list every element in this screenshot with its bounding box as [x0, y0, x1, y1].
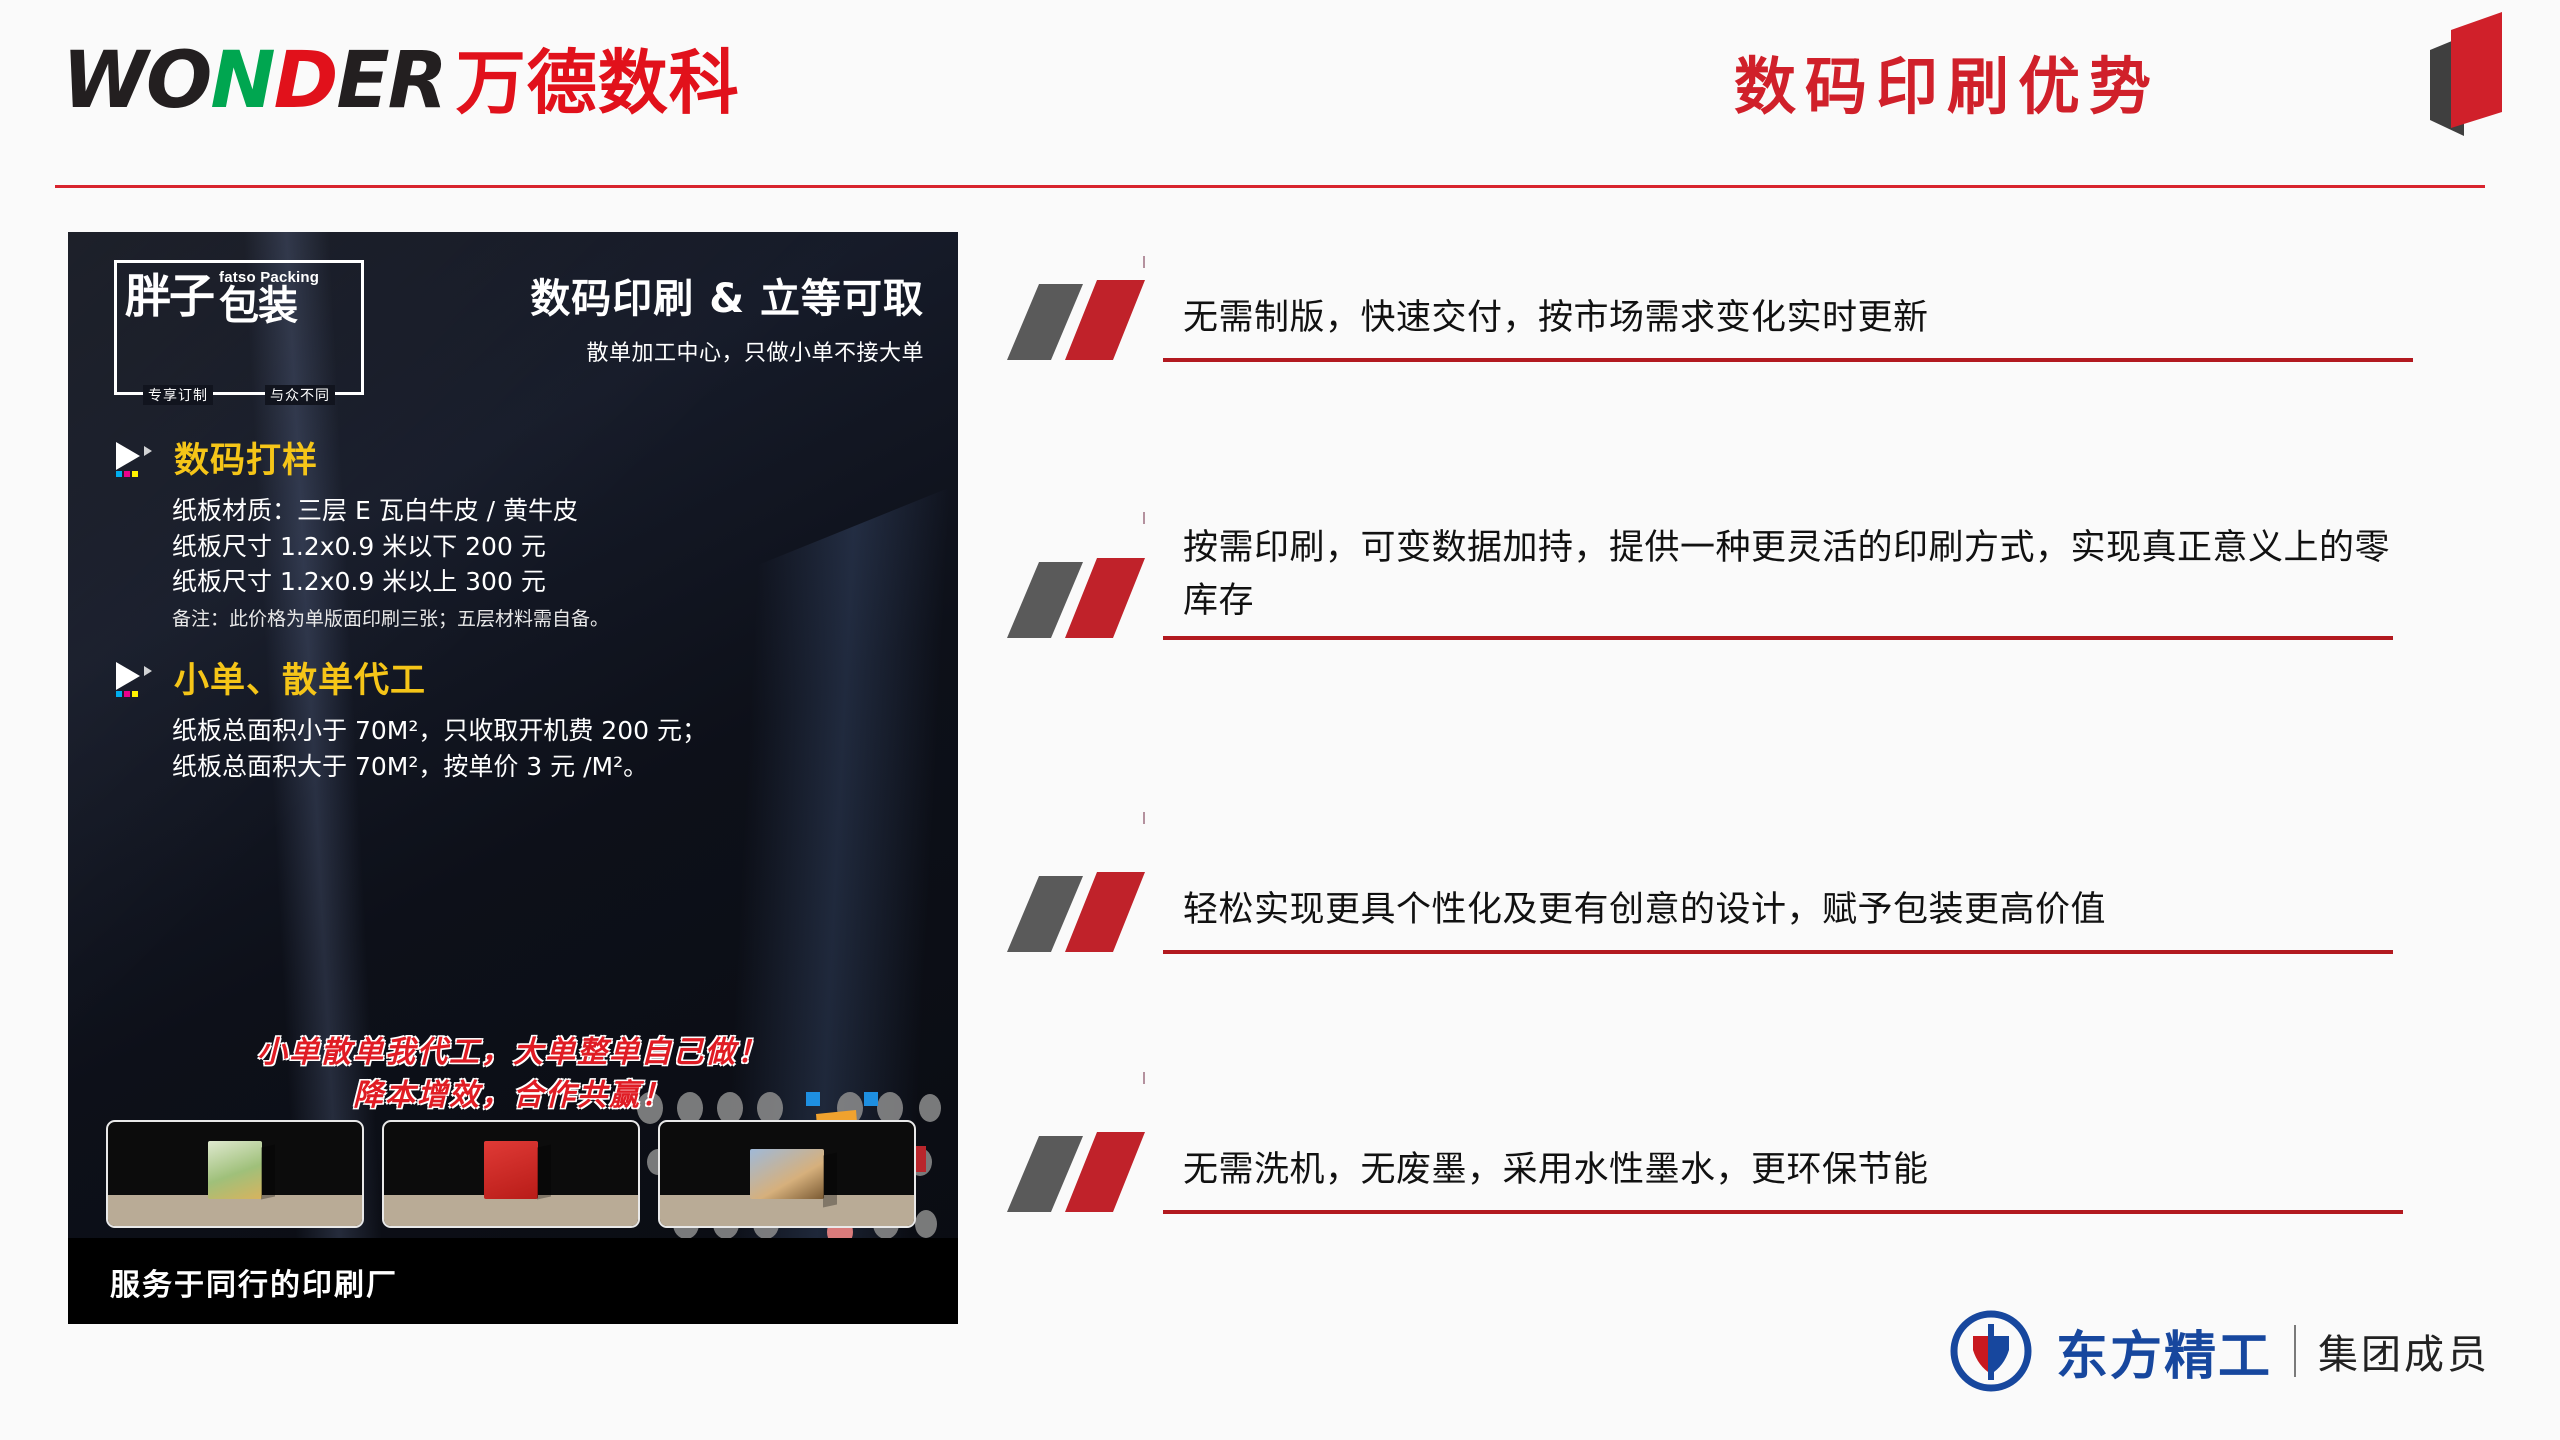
chevron-cmyk-icon [114, 438, 160, 478]
advantage-underline [1163, 1210, 2403, 1214]
page-title: 数码印刷优势 [1734, 36, 2160, 126]
fatso-packing-logo: 胖子 fatso Packing 包装 专享订制 与众不同 [114, 260, 364, 395]
poster-section-digital-proofing: 数码打样 纸板材质：三层 E 瓦白牛皮 / 黄牛皮 纸板尺寸 1.2x0.9 米… [114, 432, 609, 631]
advantage-underline [1163, 950, 2393, 954]
promo-poster: 胖子 fatso Packing 包装 专享订制 与众不同 数码印刷 & 立等可… [68, 232, 958, 1324]
fatso-logo-packing-cn: 包装 [219, 287, 319, 325]
wonder-wordmark-part2: ER [336, 36, 445, 126]
tick-mark-icon [1143, 812, 1145, 824]
poster-headline-block: 数码印刷 & 立等可取 散单加工中心，只做小单不接大单 [530, 266, 924, 367]
parallelogram-logo-mark-icon [2406, 8, 2524, 136]
fatso-logo-cn: 胖子 [125, 275, 213, 319]
dongfang-footer-logo: 东方精工 集团成员 [1948, 1308, 2490, 1394]
poster-headline: 数码印刷 & 立等可取 [530, 266, 924, 324]
dongfang-company-name: 东方精工 [2056, 1314, 2272, 1389]
product-photo [106, 1120, 364, 1228]
wonder-wordmark-d-red: D [274, 36, 337, 126]
section-line: 纸板材质：三层 E 瓦白牛皮 / 黄牛皮 [172, 493, 609, 529]
advantage-text: 无需洗机，无废墨，采用水性墨水，更环保节能 [1183, 1144, 2413, 1197]
product-photo [382, 1120, 640, 1228]
poster-subheadline: 散单加工中心，只做小单不接大单 [530, 335, 924, 367]
wonder-wordmark: WONDER [62, 42, 446, 120]
section-line: 纸板尺寸 1.2x0.9 米以下 200 元 [172, 529, 609, 565]
page-header: WONDER 万德数科 数码印刷优势 [0, 0, 2560, 190]
wonder-wordmark-n-green: N [210, 36, 273, 126]
advantage-text: 按需印刷，可变数据加持，提供一种更灵活的印刷方式，实现真正意义上的零库存 [1183, 522, 2393, 627]
group-member-label: 集团成员 [2318, 1322, 2490, 1380]
double-slash-marker-icon [1005, 842, 1185, 960]
header-divider [55, 185, 2485, 188]
tick-mark-icon [1143, 512, 1145, 524]
poster-slogan-line-1: 小单散单我代工，大单整单自己做！ [68, 1032, 958, 1075]
section-line: 纸板尺寸 1.2x0.9 米以上 300 元 [172, 564, 609, 600]
poster-footer-bar: 服务于同行的印刷厂 [68, 1238, 958, 1324]
double-slash-marker-icon [1005, 1102, 1185, 1220]
tick-mark-icon [1143, 1072, 1145, 1084]
wonder-brand-chinese: 万德数科 [456, 48, 740, 118]
footer-divider [2294, 1325, 2296, 1377]
poster-slogan: 小单散单我代工，大单整单自己做！ 降本增效，合作共赢！ [68, 1032, 958, 1117]
advantage-underline [1163, 636, 2393, 640]
poster-slogan-line-2: 降本增效，合作共赢！ [68, 1075, 958, 1118]
product-photo [658, 1120, 916, 1228]
double-slash-marker-icon [1005, 528, 1185, 646]
poster-footer-text: 服务于同行的印刷厂 [110, 1260, 398, 1304]
section-line: 纸板总面积大于 70M²，按单价 3 元 /M²。 [172, 749, 707, 785]
chevron-cmyk-icon [114, 658, 160, 698]
wonder-brand-logo: WONDER 万德数科 [62, 42, 740, 120]
section-note: 备注：此价格为单版面印刷三张；五层材料需自备。 [172, 604, 609, 631]
advantage-text: 无需制版，快速交付，按市场需求变化实时更新 [1183, 292, 2413, 345]
fatso-tag-left: 专享订制 [143, 385, 213, 405]
poster-section-small-order-oem: 小单、散单代工 纸板总面积小于 70M²，只收取开机费 200 元； 纸板总面积… [114, 652, 707, 784]
section-title: 小单、散单代工 [174, 652, 426, 703]
double-slash-marker-icon [1005, 250, 1185, 368]
section-line: 纸板总面积小于 70M²，只收取开机费 200 元； [172, 713, 707, 749]
wonder-wordmark-part1: WO [62, 36, 210, 126]
fatso-tag-right: 与众不同 [265, 385, 335, 405]
section-title: 数码打样 [174, 432, 318, 483]
advantage-text: 轻松实现更具个性化及更有创意的设计，赋予包装更高价值 [1183, 884, 2413, 937]
dongfang-circle-logo-icon [1948, 1308, 2034, 1394]
advantage-underline [1163, 358, 2413, 362]
